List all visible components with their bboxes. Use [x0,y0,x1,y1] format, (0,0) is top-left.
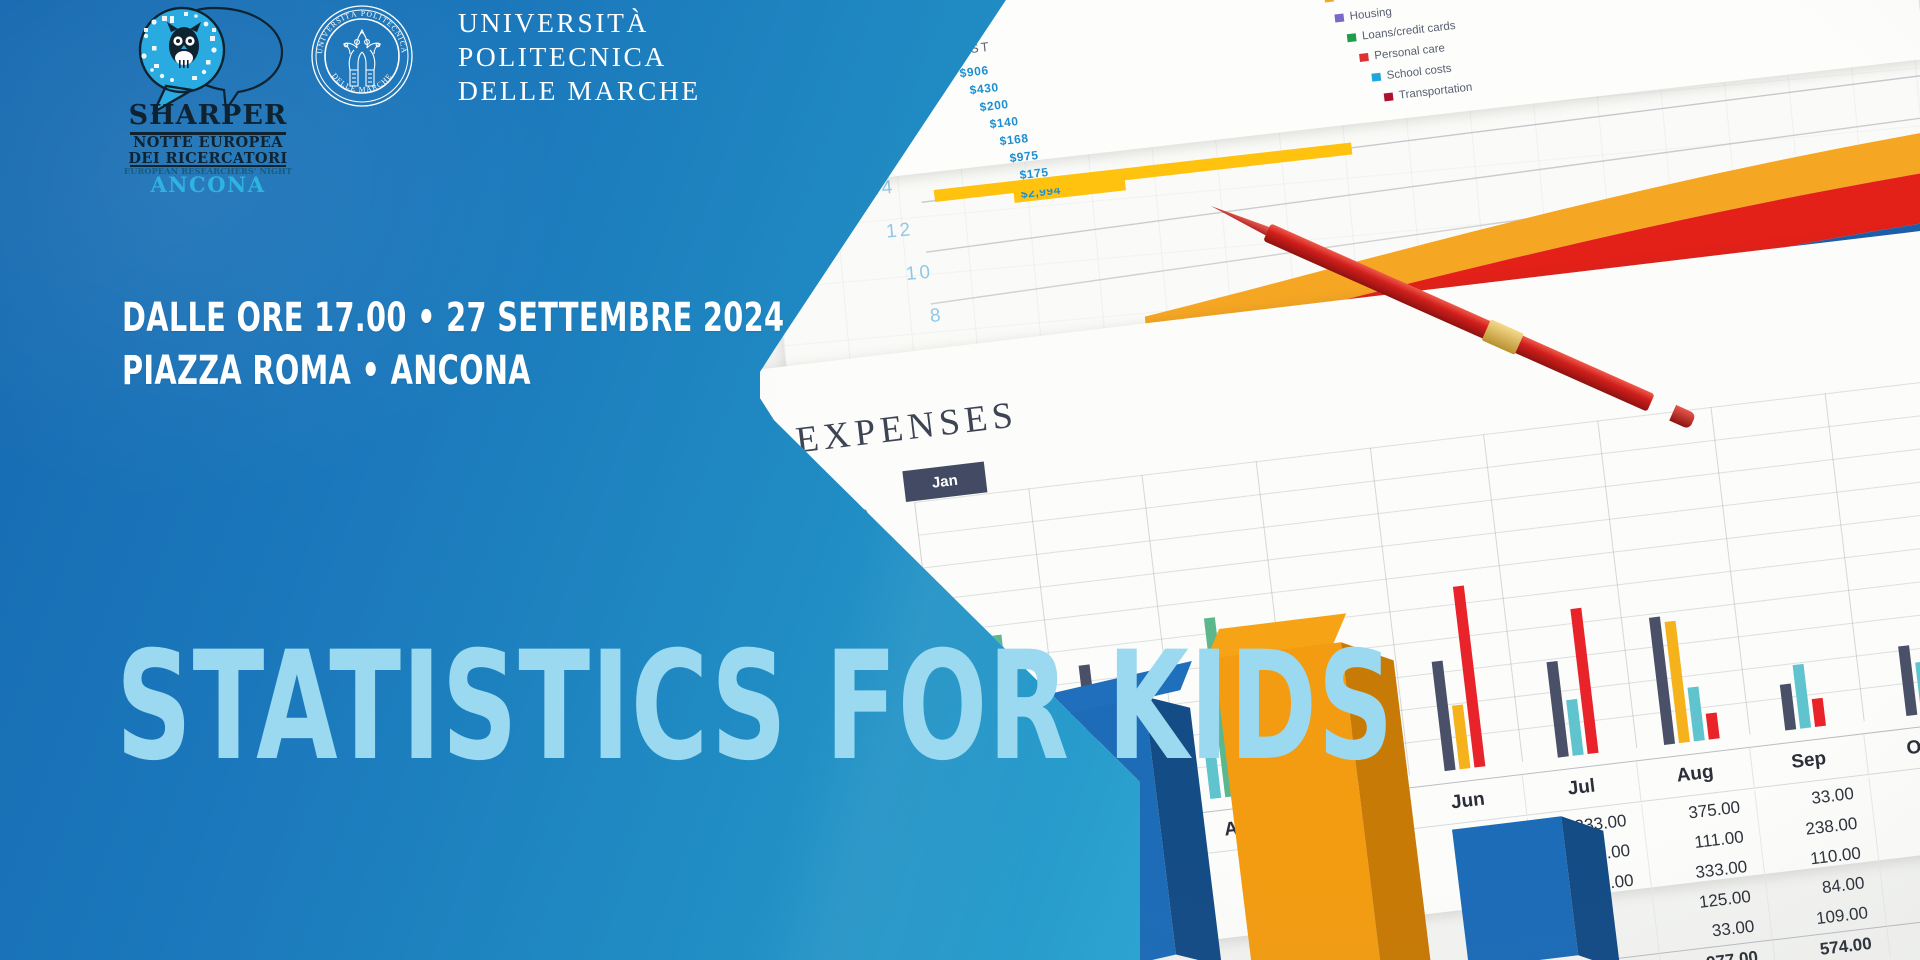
legend-label: Personal care [1374,42,1446,62]
bar-group [1387,581,1522,775]
legend-swatch-school-costs [1371,73,1381,82]
sharper-subtitle-line1: NOTTE EUROPEA [122,135,294,151]
bar [1547,661,1569,758]
expense-category-legend: Food Housing Loans/credit cards Personal… [1324,0,1446,109]
legend-item: Personal care [1359,40,1469,64]
sharper-city-label: ANCONA [122,172,294,197]
univpm-name-line3: DELLE MARCHE [458,74,701,108]
bar [1793,664,1812,729]
bar [1898,645,1917,716]
legend-swatch-loans [1347,33,1357,42]
univpm-seal: UNIVERSITÀ POLITECNICA DELLE MARCHE [310,4,414,108]
poster-title: STATISTICS FOR KIDS [116,632,896,782]
bar-group [1741,658,1862,735]
event-location: PIAZZA ROMA • ANCONA [122,345,682,398]
bar-group [1504,603,1635,762]
legend-swatch-housing [1334,14,1344,23]
legend-item: Housing [1334,0,1444,24]
bar [1780,684,1796,731]
legend-swatch-personal-care [1359,53,1369,62]
sharper-logo: SHARPER NOTTE EUROPEA DEI RICERCATORI EU… [122,2,294,198]
sharper-wordmark: SHARPER [122,102,294,129]
event-datetime: DALLE ORE 17.00 • 27 SETTEMBRE 2024 [122,292,682,345]
univpm-name-line1: UNIVERSITÀ [458,6,701,40]
bar [1688,686,1705,741]
legend-label: School costs [1386,63,1452,82]
univpm-name-line2: POLITECNICA [458,40,701,74]
legend-label: Loans/credit cards [1361,20,1456,43]
svg-text:DELLE MARCHE: DELLE MARCHE [330,71,394,94]
legend-item: Loans/credit cards [1347,20,1457,44]
legend-label: Transportation [1398,81,1473,101]
univpm-name: UNIVERSITÀ POLITECNICA DELLE MARCHE [458,6,701,108]
month-header: Oct [1864,721,1920,774]
bar [1432,661,1456,772]
legend-item: Transportation [1383,79,1493,103]
svg-text:UNIVERSITÀ POLITECNICA: UNIVERSITÀ POLITECNICA [315,8,409,54]
legend-label: Food [1339,0,1366,3]
legend-swatch-food [1324,0,1334,3]
event-details: DALLE ORE 17.00 • 27 SETTEMBRE 2024 PIAZ… [122,292,822,398]
expenses-title: EXPENSES [793,393,1020,462]
sharper-subtitle: NOTTE EUROPEA DEI RICERCATORI [122,135,294,166]
bar-group [1620,608,1749,749]
blue-3d-bar-block-2 [1452,811,1618,960]
legend-swatch-transportation [1384,92,1394,101]
bar-group [1854,638,1920,721]
legend-item: School costs [1371,59,1481,83]
area-ytick: 12 [885,219,914,243]
speech-bubble-graphic [122,2,294,114]
legend-label: Housing [1349,6,1392,23]
bar [1706,712,1720,739]
bar [1812,698,1826,727]
univpm-logo: UNIVERSITÀ POLITECNICA DELLE MARCHE [310,2,710,120]
bar [1566,699,1584,756]
logo-row: SHARPER NOTTE EUROPEA DEI RICERCATORI EU… [0,0,760,210]
sharper-subtitle-line2: DEI RICERCATORI [122,151,294,167]
